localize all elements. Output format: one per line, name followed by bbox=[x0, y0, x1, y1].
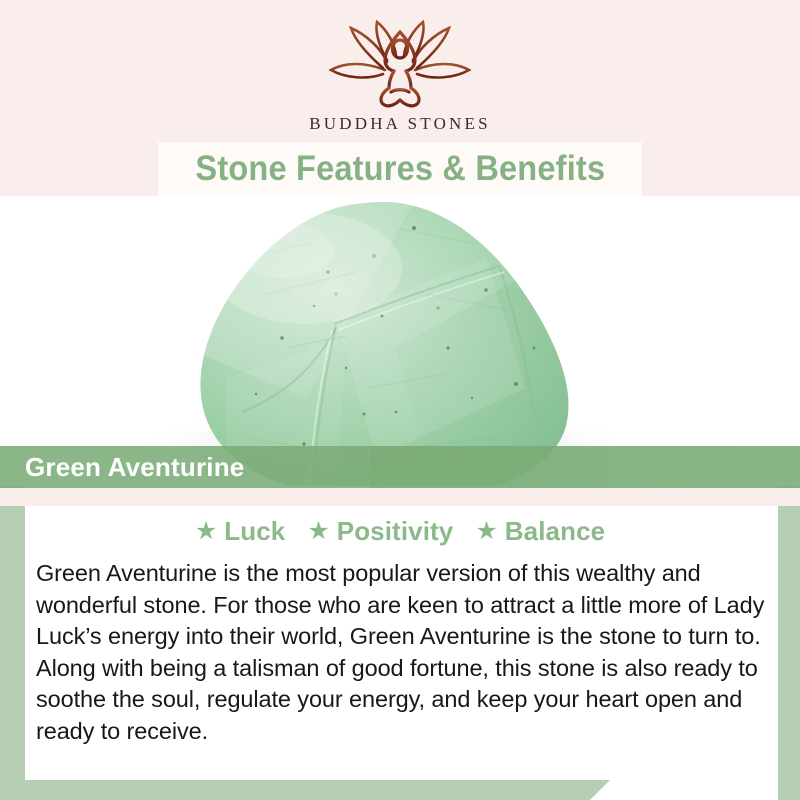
star-icon: ★ bbox=[307, 519, 329, 544]
brand-name: BUDDHA STONES bbox=[309, 114, 491, 134]
page-title: Stone Features & Benefits bbox=[195, 149, 605, 189]
brand-logo: BUDDHA STONES bbox=[0, 18, 800, 134]
title-banner: Stone Features & Benefits bbox=[158, 142, 642, 196]
benefit-item: ★ Positivity bbox=[307, 516, 453, 547]
infographic-page: BUDDHA STONES Stone Features & Benefits bbox=[0, 0, 800, 800]
stone-name-label: Green Aventurine bbox=[25, 452, 244, 483]
star-icon: ★ bbox=[475, 519, 497, 544]
lotus-meditation-logo-icon bbox=[325, 18, 475, 110]
frame-bottom-band bbox=[0, 780, 610, 800]
benefit-item: ★ Balance bbox=[475, 516, 605, 547]
description-text: Green Aventurine is the most popular ver… bbox=[36, 558, 774, 747]
benefit-label: Luck bbox=[224, 516, 285, 547]
star-icon: ★ bbox=[195, 519, 217, 544]
stone-name-band: Green Aventurine bbox=[0, 446, 800, 488]
cream-divider-strip bbox=[0, 488, 800, 506]
benefit-item: ★ Luck bbox=[195, 516, 286, 547]
green-aventurine-stone-image bbox=[186, 198, 590, 486]
stone-photo bbox=[0, 196, 800, 486]
name-band-fade bbox=[370, 446, 800, 488]
benefit-label: Positivity bbox=[337, 516, 454, 547]
benefit-label: Balance bbox=[505, 516, 605, 547]
benefits-row: ★ Luck ★ Positivity ★ Balance bbox=[0, 516, 800, 547]
